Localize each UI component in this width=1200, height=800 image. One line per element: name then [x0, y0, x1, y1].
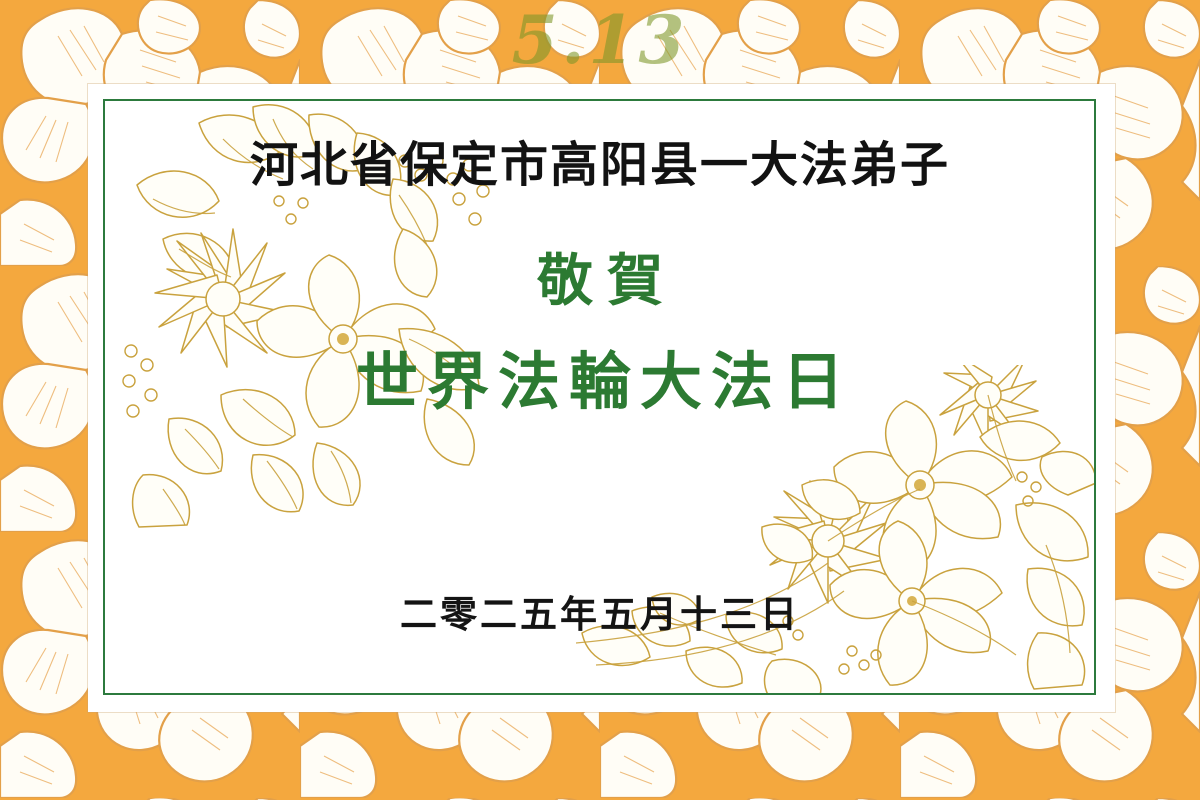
- card-title-line: 河北省保定市高阳县一大法弟子: [0, 138, 1200, 192]
- card-main-line: 世界法輪大法日: [0, 345, 1200, 419]
- card-greeting-line: 敬賀: [0, 250, 1200, 314]
- poster-canvas: 5.13: [0, 0, 1200, 800]
- watermark-date: 5.13: [0, 4, 1200, 76]
- card-date-line: 二零二五年五月十三日: [0, 592, 1200, 638]
